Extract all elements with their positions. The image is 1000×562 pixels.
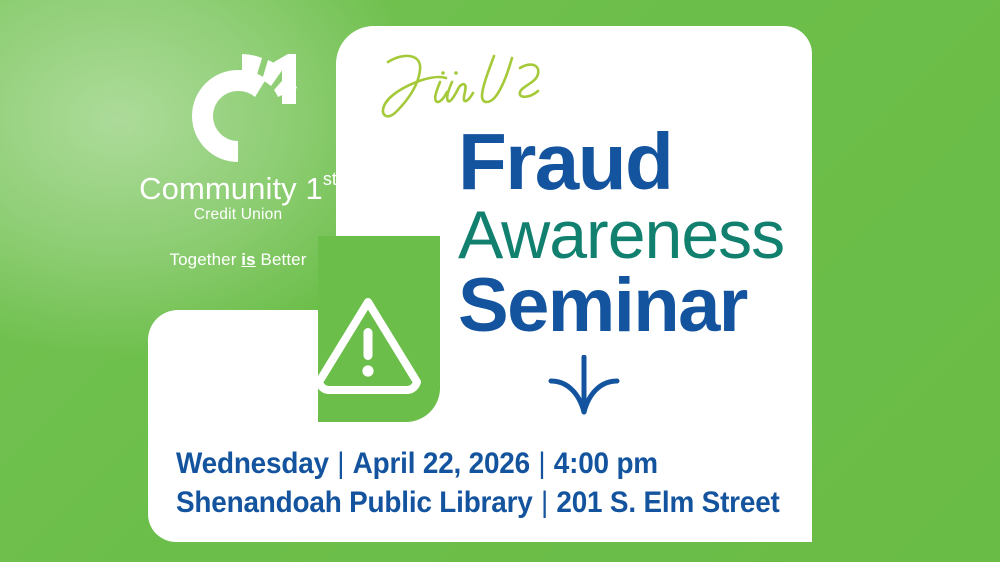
brand-logo-lockup: Community 1st Credit Union Together is B… bbox=[138, 52, 338, 262]
join-us-script-text bbox=[370, 46, 560, 126]
separator-2: | bbox=[530, 447, 554, 480]
headline-block: Fraud Awareness Seminar bbox=[458, 124, 818, 343]
headline-line-fraud: Fraud bbox=[458, 124, 818, 201]
tagline-after: Better bbox=[256, 250, 307, 269]
event-venue: Shenandoah Public Library bbox=[176, 486, 533, 519]
event-time: 4:00 pm bbox=[554, 447, 658, 480]
brand-name: Community 1 bbox=[139, 171, 323, 206]
event-when-line: Wednesday|April 22, 2026|4:00 pm bbox=[176, 444, 771, 483]
event-where-line: Shenandoah Public Library|201 S. Elm Str… bbox=[176, 483, 771, 522]
event-details-block: Wednesday|April 22, 2026|4:00 pm Shenand… bbox=[176, 444, 816, 522]
community-1st-c-mark-icon bbox=[170, 52, 306, 164]
headline-line-awareness: Awareness bbox=[458, 203, 818, 268]
down-arrow-icon bbox=[545, 355, 623, 417]
tagline-before: Together bbox=[170, 250, 242, 269]
brand-subtitle: Credit Union bbox=[138, 206, 338, 224]
tagline-emphasis: is bbox=[241, 250, 255, 269]
warning-triangle-icon bbox=[309, 292, 427, 398]
brand-tagline: Together is Better bbox=[138, 250, 338, 270]
fraud-awareness-seminar-flyer: Community 1st Credit Union Together is B… bbox=[0, 0, 1000, 562]
brand-name-ordinal: st bbox=[323, 169, 337, 189]
event-day: Wednesday bbox=[176, 447, 329, 480]
separator-1: | bbox=[329, 447, 353, 480]
brand-wordmark: Community 1st bbox=[138, 170, 338, 205]
event-address: 201 S. Elm Street bbox=[556, 486, 779, 519]
headline-line-seminar: Seminar bbox=[458, 270, 818, 343]
separator-3: | bbox=[533, 486, 557, 519]
event-date: April 22, 2026 bbox=[353, 447, 530, 480]
